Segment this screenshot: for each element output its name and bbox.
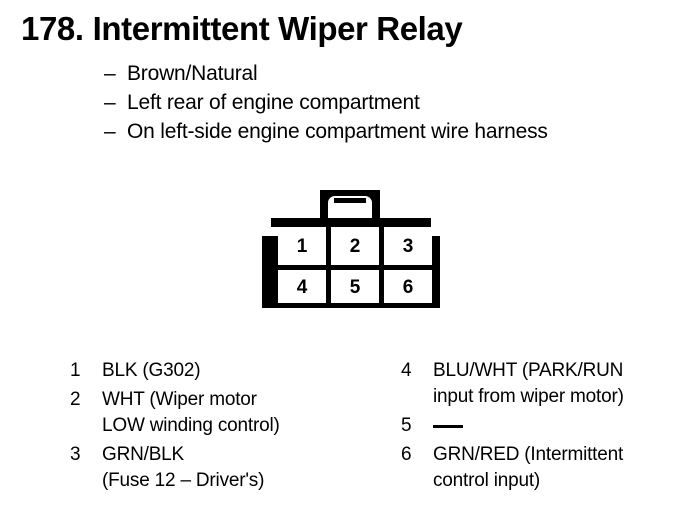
pin-legend-item: 1 BLK (G302)	[70, 358, 380, 384]
page-title-text: Intermittent Wiper Relay	[93, 10, 463, 47]
dash-bullet-icon: –	[104, 117, 127, 146]
pin-legend-number: 4	[401, 358, 433, 384]
dash-bullet-icon: –	[104, 59, 127, 88]
description-item: – Brown/Natural	[104, 59, 684, 88]
pin-number-label: 5	[331, 270, 379, 299]
dash-bullet-icon: –	[104, 88, 127, 117]
pin-legend-left-column: 1 BLK (G302) 2 WHT (Wiper motor LOW wind…	[70, 358, 380, 497]
pin-legend-item: 4 BLU/WHT (PARK/RUN input from wiper mot…	[401, 358, 688, 410]
pin-legend-description: GRN/BLK (Fuse 12 – Driver's)	[102, 442, 264, 494]
pin-number-label: 3	[384, 227, 432, 258]
pin-legend-right-column: 4 BLU/WHT (PARK/RUN input from wiper mot…	[401, 358, 688, 497]
connector-shoulder-notch-left	[262, 227, 278, 236]
description-list: – Brown/Natural – Left rear of engine co…	[104, 59, 684, 146]
pin-legend-item: 5	[401, 413, 688, 439]
connector-pin-cell-2: 2	[331, 227, 379, 265]
pin-legend-number: 1	[70, 358, 102, 384]
pin-number-label: 2	[331, 227, 379, 258]
pin-legend-number: 3	[70, 442, 102, 468]
connector-diagram: 1 2 3 4 5 6	[259, 190, 443, 312]
description-text: Brown/Natural	[127, 59, 257, 88]
pin-legend-description: GRN/RED (Intermittent control input)	[433, 442, 623, 494]
page-title: 178.Intermittent Wiper Relay	[21, 10, 462, 48]
pin-number-label: 1	[278, 227, 326, 258]
pin-legend-description: BLU/WHT (PARK/RUN input from wiper motor…	[433, 358, 624, 410]
pin-legend-number: 2	[70, 387, 102, 413]
description-text: Left rear of engine compartment	[127, 88, 420, 117]
page-title-number: 178.	[21, 10, 84, 47]
pin-number-label: 6	[384, 270, 432, 299]
connector-pin-cell-5: 5	[331, 270, 379, 303]
pin-legend-number: 5	[401, 413, 433, 439]
pin-legend-number: 6	[401, 442, 433, 468]
pin-legend-item: 2 WHT (Wiper motor LOW winding control)	[70, 387, 380, 439]
pin-legend-description: BLK (G302)	[102, 358, 200, 384]
pin-number-label: 4	[278, 270, 326, 299]
pin-legend-description-empty	[433, 413, 463, 428]
connector-pin-cell-1: 1	[278, 227, 326, 265]
description-text: On left-side engine compartment wire har…	[127, 117, 548, 146]
description-item: – On left-side engine compartment wire h…	[104, 117, 684, 146]
pin-legend-description: WHT (Wiper motor LOW winding control)	[102, 387, 280, 439]
connector-pin-cell-3: 3	[384, 227, 432, 265]
pin-legend-item: 6 GRN/RED (Intermittent control input)	[401, 442, 688, 494]
pin-legend-item: 3 GRN/BLK (Fuse 12 – Driver's)	[70, 442, 380, 494]
connector-pin-cell-4: 4	[278, 270, 326, 303]
empty-pin-dash-icon	[433, 425, 463, 428]
description-item: – Left rear of engine compartment	[104, 88, 684, 117]
connector-pin-cell-6: 6	[384, 270, 432, 303]
latch-bar	[334, 198, 366, 203]
